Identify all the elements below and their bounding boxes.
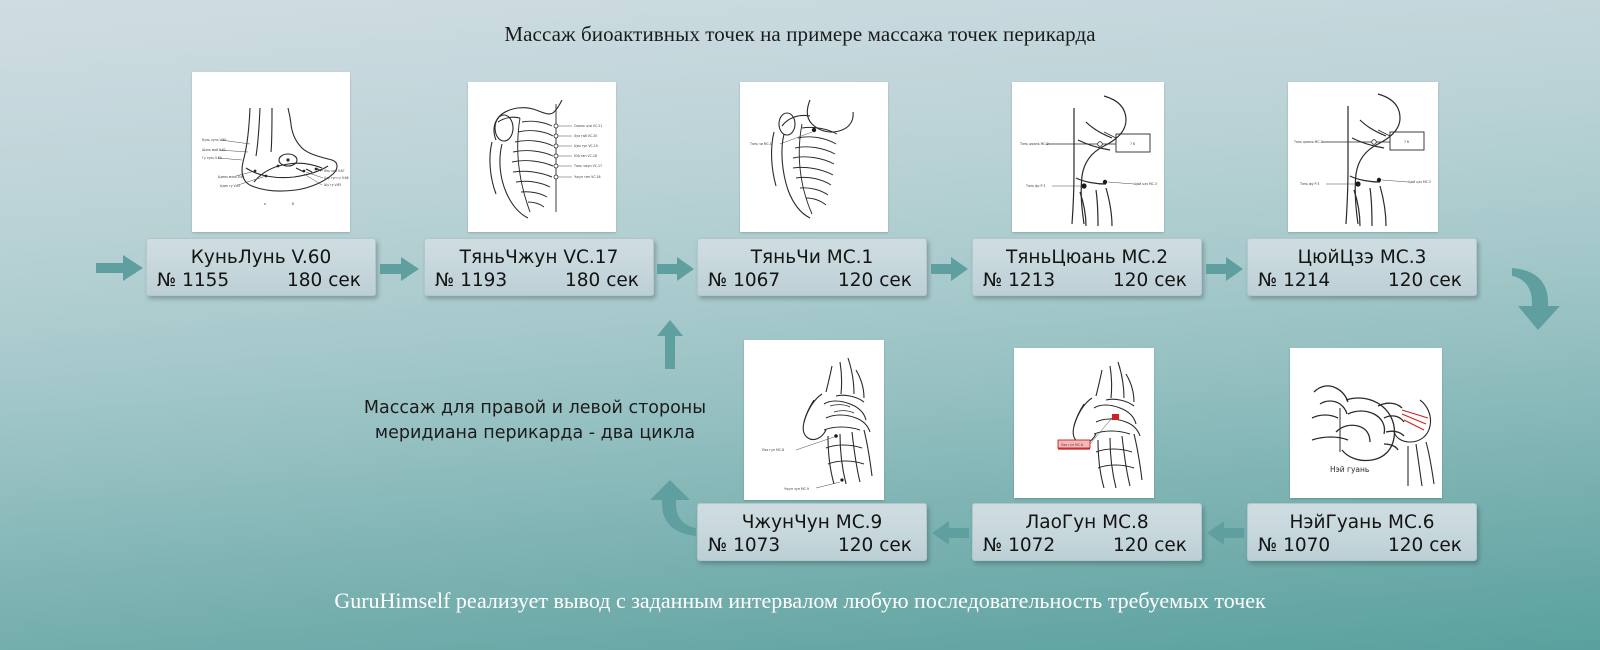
chest-acupoints-diagram: Тянь чи MC.1	[740, 82, 888, 232]
arrow-into-kunlun	[96, 254, 144, 282]
node-tianzhun-meta: № 1193 180 сек	[425, 269, 653, 293]
svg-text:7 б: 7 б	[1404, 140, 1409, 144]
node-quyize-duration: 120 сек	[1388, 269, 1466, 293]
foot-acupoints-diagram: Кунь лунь V.60 Шэнь май V.62 Гу сунь V.6…	[192, 72, 350, 232]
node-quyize[interactable]: ЦюйЦзэ MC.3 № 1214 120 сек	[1247, 238, 1477, 296]
node-laogun-duration: 120 сек	[1113, 534, 1191, 558]
svg-text:Шэнь май V.62: Шэнь май V.62	[202, 148, 226, 152]
node-neiguan-duration: 120 сек	[1388, 534, 1466, 558]
arrow-neiguan-to-laogun	[1207, 520, 1245, 546]
svg-text:Гу сунь V.63: Гу сунь V.63	[202, 156, 222, 160]
svg-text:Юй тан VC.18: Юй тан VC.18	[574, 154, 597, 158]
arrow-tianzhun-to-tianchi	[657, 256, 695, 282]
node-tianzhun-name: ТяньЧжун VC.17	[425, 246, 653, 269]
node-kunlun-meta: № 1155 180 сек	[147, 269, 375, 293]
svg-text:7 б: 7 б	[1130, 142, 1135, 146]
node-tianzhun-number: № 1193	[435, 269, 519, 293]
node-kunlun[interactable]: КуньЛунь V.60 № 1155 180 сек	[146, 238, 376, 296]
svg-text:Шу гу V.65: Шу гу V.65	[324, 183, 341, 187]
node-tianzhun-duration: 180 сек	[565, 269, 643, 293]
image-card-laogun: Лао гун MC.8	[1014, 348, 1154, 498]
upper-arm-acupoints-diagram: Тянь цюань MC.2 7 б Тянь фу Р.3 Цюй цзэ …	[1012, 82, 1164, 232]
palm-laogong-point-diagram: Лао гун MC.8	[1014, 348, 1154, 498]
node-tianchi-duration: 120 сек	[838, 269, 916, 293]
node-tianquan-duration: 120 сек	[1113, 269, 1191, 293]
node-tianquan-name: ТяньЦюань MC.2	[973, 246, 1201, 269]
svg-text:Янь лин V.67: Янь лин V.67	[324, 169, 345, 173]
node-laogun-name: ЛаоГун MC.8	[973, 511, 1201, 534]
node-tianchi-name: ТяньЧи MC.1	[698, 246, 926, 269]
svg-text:Сюань цзи VC.21: Сюань цзи VC.21	[574, 124, 602, 128]
node-tianchi-number: № 1067	[708, 269, 792, 293]
svg-text:Чжун чун MC.9: Чжун чун MC.9	[784, 487, 809, 491]
arrow-laogun-to-zhongchong	[932, 520, 970, 546]
node-neiguan[interactable]: НэйГуань MC.6 № 1070 120 сек	[1247, 503, 1477, 561]
node-kunlun-name: КуньЛунь V.60	[147, 246, 375, 269]
arrow-quyize-to-neiguan	[1506, 262, 1568, 332]
footer-text: GuruHimself реализует вывод с заданным и…	[0, 588, 1600, 614]
wrist-neiguan-massage-diagram: Нэй гуань	[1290, 348, 1442, 498]
diagram-canvas: Массаж биоактивных точек на примере масс…	[0, 0, 1600, 650]
node-zhongchong-name: ЧжунЧун MC.9	[698, 511, 926, 534]
svg-text:Цюй цзэ MC.3: Цюй цзэ MC.3	[1134, 182, 1157, 186]
image-card-zhongchong: Лао гун MC.8 Чжун чун MC.9	[744, 340, 884, 500]
node-zhongchong-meta: № 1073 120 сек	[698, 534, 926, 558]
svg-text:Цюй цзэ MC.3: Цюй цзэ MC.3	[1408, 180, 1431, 184]
node-quyize-meta: № 1214 120 сек	[1248, 269, 1476, 293]
node-zhongchong-number: № 1073	[708, 534, 792, 558]
svg-text:Тянь фу Р.3: Тянь фу Р.3	[1025, 184, 1045, 188]
ribcage-acupoints-diagram: Сюань цзи VC.21 Хуа гай VC.20 Цзы гун VC…	[468, 82, 616, 232]
arrow-loop-up-to-tianchi	[656, 320, 684, 370]
image-card-tianchi: Тянь чи MC.1	[740, 82, 888, 232]
image-card-kunlun: Кунь лунь V.60 Шэнь май V.62 Гу сунь V.6…	[192, 72, 350, 232]
page-title: Массаж биоактивных точек на примере масс…	[0, 22, 1600, 47]
node-neiguan-number: № 1070	[1258, 534, 1342, 558]
node-tianzhun[interactable]: ТяньЧжун VC.17 № 1193 180 сек	[424, 238, 654, 296]
node-laogun-number: № 1072	[983, 534, 1067, 558]
svg-text:Тянь цюань MC.2: Тянь цюань MC.2	[1019, 142, 1049, 146]
cycle-note: Массаж для правой и левой стороны мериди…	[340, 396, 730, 446]
node-quyize-name: ЦюйЦзэ MC.3	[1248, 246, 1476, 269]
node-neiguan-name: НэйГуань MC.6	[1248, 511, 1476, 534]
node-laogun[interactable]: ЛаоГун MC.8 № 1072 120 сек	[972, 503, 1202, 561]
cycle-note-line1: Массаж для правой и левой стороны	[340, 396, 730, 421]
node-neiguan-meta: № 1070 120 сек	[1248, 534, 1476, 558]
svg-text:Цзинь мэнь V.64: Цзинь мэнь V.64	[218, 175, 244, 179]
svg-text:Цзы гун VC.19: Цзы гун VC.19	[574, 144, 598, 148]
arrow-tianquan-to-quyize	[1206, 256, 1244, 282]
node-kunlun-duration: 180 сек	[287, 269, 365, 293]
svg-text:Тянь цюань MC.2: Тянь цюань MC.2	[1293, 140, 1323, 144]
svg-text:Хуа гай VC.20: Хуа гай VC.20	[574, 134, 597, 138]
node-laogun-meta: № 1072 120 сек	[973, 534, 1201, 558]
node-tianquan-number: № 1213	[983, 269, 1067, 293]
svg-text:Цзу тун гу V.66: Цзу тун гу V.66	[324, 176, 349, 180]
svg-text:Тянь фу Р.3: Тянь фу Р.3	[1299, 182, 1319, 186]
svg-text:Лао гун MC.8: Лао гун MC.8	[762, 448, 784, 452]
svg-text:Лао гун MC.8: Лао гун MC.8	[1061, 443, 1083, 447]
svg-text:Тань чжун VC.17: Тань чжун VC.17	[573, 164, 602, 168]
elbow-acupoints-diagram: Тянь цюань MC.2 7 б Тянь фу Р.3 Цюй цзэ …	[1288, 82, 1438, 232]
node-tianchi[interactable]: ТяньЧи MC.1 № 1067 120 сек	[697, 238, 927, 296]
cycle-note-line2: меридиана перикарда - два цикла	[340, 421, 730, 446]
arrow-tianchi-to-tianquan	[931, 256, 969, 282]
node-tianquan-meta: № 1213 120 сек	[973, 269, 1201, 293]
node-zhongchong-duration: 120 сек	[838, 534, 916, 558]
image-card-tianquan: Тянь цюань MC.2 7 б Тянь фу Р.3 Цюй цзэ …	[1012, 82, 1164, 232]
svg-text:Цзин гу V.65: Цзин гу V.65	[220, 184, 240, 188]
svg-text:Чжун тин VC.16: Чжун тин VC.16	[574, 175, 601, 179]
svg-text:Нэй гуань: Нэй гуань	[1330, 465, 1369, 474]
node-zhongchong[interactable]: ЧжунЧун MC.9 № 1073 120 сек	[697, 503, 927, 561]
svg-text:б: б	[292, 202, 294, 206]
image-card-neiguan: Нэй гуань	[1290, 348, 1442, 498]
hand-bones-acupoints-diagram: Лао гун MC.8 Чжун чун MC.9	[744, 340, 884, 500]
arrow-zhongchong-loop-back	[648, 480, 700, 546]
node-tianquan[interactable]: ТяньЦюань MC.2 № 1213 120 сек	[972, 238, 1202, 296]
image-card-quyize: Тянь цюань MC.2 7 б Тянь фу Р.3 Цюй цзэ …	[1288, 82, 1438, 232]
node-quyize-number: № 1214	[1258, 269, 1342, 293]
node-kunlun-number: № 1155	[157, 269, 241, 293]
arrow-kunlun-to-tianzhun	[380, 256, 420, 282]
node-tianchi-meta: № 1067 120 сек	[698, 269, 926, 293]
svg-text:Тянь чи MC.1: Тянь чи MC.1	[749, 142, 772, 146]
image-card-tianzhun: Сюань цзи VC.21 Хуа гай VC.20 Цзы гун VC…	[468, 82, 616, 232]
svg-text:Кунь лунь V.60: Кунь лунь V.60	[202, 138, 226, 142]
svg-text:a: a	[264, 202, 266, 206]
